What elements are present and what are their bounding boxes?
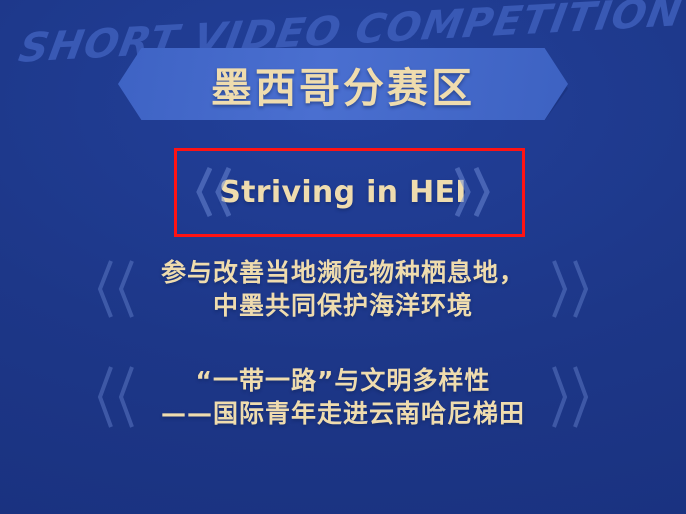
highlight-outline (174, 148, 525, 237)
entry-block-2: “一带一路”与文明多样性 ——国际青年走进云南哈尼梯田 (0, 355, 686, 439)
entry-line-1: “一带一路”与文明多样性 (161, 364, 525, 397)
chevron-left-icon (96, 258, 135, 320)
ribbon-body: 墨西哥分赛区 (118, 48, 568, 120)
chevron-left-icon (96, 364, 135, 430)
chevron-right-icon (551, 364, 590, 430)
chevron-right-icon (551, 258, 590, 320)
entry-line-2: ——国际青年走进云南哈尼梯田 (161, 397, 525, 430)
entry-text: 参与改善当地濒危物种栖息地， 中墨共同保护海洋环境 (161, 256, 525, 322)
title-ribbon: 墨西哥分赛区 (118, 48, 568, 120)
slide-canvas: SHORT VIDEO COMPETITION 墨西哥分赛区 Striving … (0, 0, 686, 514)
entry-line-1: 参与改善当地濒危物种栖息地， (161, 256, 525, 289)
entry-block-1: 参与改善当地濒危物种栖息地， 中墨共同保护海洋环境 (0, 250, 686, 328)
entry-text: “一带一路”与文明多样性 ——国际青年走进云南哈尼梯田 (161, 364, 525, 430)
ribbon-title-text: 墨西哥分赛区 (211, 54, 475, 114)
entry-line-2: 中墨共同保护海洋环境 (161, 289, 525, 322)
